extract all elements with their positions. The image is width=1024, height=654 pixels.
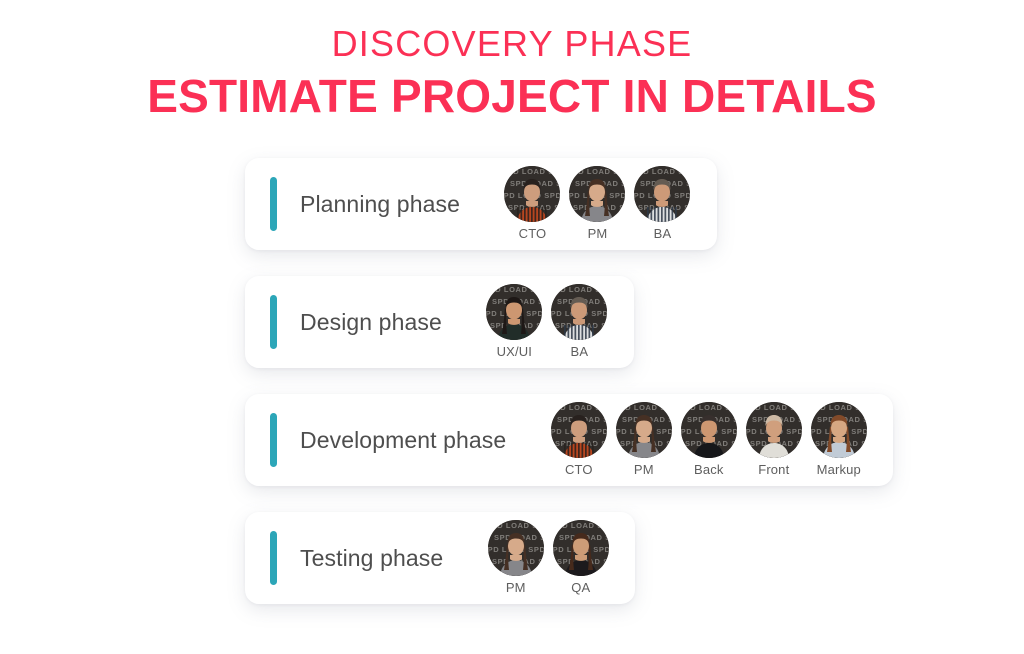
phase-accent-bar xyxy=(270,177,277,231)
page-header: Discovery phase Estimate project in deta… xyxy=(0,0,1024,124)
avatar-woman-dark-hair[interactable]: SPD LOAD SPD LOADSPD LOAD SPD LOADSPD LO… xyxy=(486,284,542,340)
phase-card[interactable]: Development phaseSPD LOAD SPD LOADSPD LO… xyxy=(245,394,893,486)
team-member[interactable]: SPD LOAD SPD LOADSPD LOAD SPD LOADSPD LO… xyxy=(676,402,741,477)
phase-accent-bar xyxy=(270,531,277,585)
team-member[interactable]: SPD LOAD SPD LOADSPD LOAD SPD LOADSPD LO… xyxy=(565,166,630,241)
team-member-role-label: CTO xyxy=(519,227,547,241)
team-member-role-label: PM xyxy=(634,463,654,477)
avatar-woman-long-brown-hair[interactable]: SPD LOAD SPD LOADSPD LOAD SPD LOADSPD LO… xyxy=(553,520,609,576)
phase-card[interactable]: Testing phaseSPD LOAD SPD LOADSPD LOAD S… xyxy=(245,512,635,604)
avatar-man-striped-navy[interactable]: SPD LOAD SPD LOADSPD LOAD SPD LOADSPD LO… xyxy=(551,284,607,340)
team-member-role-label: Front xyxy=(758,463,789,477)
team-member-role-label: QA xyxy=(571,581,590,595)
avatar-man-white-shirt[interactable]: SPD LOAD SPD LOADSPD LOAD SPD LOADSPD LO… xyxy=(746,402,802,458)
team-member[interactable]: SPD LOAD SPD LOADSPD LOAD SPD LOADSPD LO… xyxy=(500,166,565,241)
avatar-man-black-shirt[interactable]: SPD LOAD SPD LOADSPD LOAD SPD LOADSPD LO… xyxy=(681,402,737,458)
team-member[interactable]: SPD LOAD SPD LOADSPD LOAD SPD LOADSPD LO… xyxy=(547,284,612,359)
team-member[interactable]: SPD LOAD SPD LOADSPD LOAD SPD LOADSPD LO… xyxy=(483,520,548,595)
team-member-row: SPD LOAD SPD LOADSPD LOAD SPD LOADSPD LO… xyxy=(546,402,871,477)
team-member-role-label: PM xyxy=(588,227,608,241)
team-member-row: SPD LOAD SPD LOADSPD LOAD SPD LOADSPD LO… xyxy=(483,520,613,595)
team-member-role-label: UX/UI xyxy=(497,345,532,359)
team-member[interactable]: SPD LOAD SPD LOADSPD LOAD SPD LOADSPD LO… xyxy=(630,166,695,241)
avatar-man-striped-orange[interactable]: SPD LOAD SPD LOADSPD LOAD SPD LOADSPD LO… xyxy=(504,166,560,222)
team-member-role-label: CTO xyxy=(565,463,593,477)
team-member-role-label: PM xyxy=(506,581,526,595)
phase-list: Planning phaseSPD LOAD SPD LOADSPD LOAD … xyxy=(245,158,1024,604)
phase-name: Testing phase xyxy=(300,545,443,572)
avatar-woman-gray-collar[interactable]: SPD LOAD SPD LOADSPD LOAD SPD LOADSPD LO… xyxy=(488,520,544,576)
slide-root: Discovery phase Estimate project in deta… xyxy=(0,0,1024,654)
phase-accent-bar xyxy=(270,295,277,349)
team-member-role-label: BA xyxy=(654,227,672,241)
team-member[interactable]: SPD LOAD SPD LOADSPD LOAD SPD LOADSPD LO… xyxy=(482,284,547,359)
avatar-woman-light-blue[interactable]: SPD LOAD SPD LOADSPD LOAD SPD LOADSPD LO… xyxy=(811,402,867,458)
phase-name: Design phase xyxy=(300,309,442,336)
phase-name: Planning phase xyxy=(300,191,460,218)
team-member[interactable]: SPD LOAD SPD LOADSPD LOAD SPD LOADSPD LO… xyxy=(611,402,676,477)
team-member[interactable]: SPD LOAD SPD LOADSPD LOAD SPD LOADSPD LO… xyxy=(548,520,613,595)
team-member-row: SPD LOAD SPD LOADSPD LOAD SPD LOADSPD LO… xyxy=(482,284,612,359)
eyebrow-title: Discovery phase xyxy=(0,24,1024,64)
avatar-man-striped-navy[interactable]: SPD LOAD SPD LOADSPD LOAD SPD LOADSPD LO… xyxy=(634,166,690,222)
team-member[interactable]: SPD LOAD SPD LOADSPD LOAD SPD LOADSPD LO… xyxy=(806,402,871,477)
team-member-role-label: Markup xyxy=(817,463,861,477)
team-member-role-label: BA xyxy=(571,345,589,359)
avatar-woman-gray-collar[interactable]: SPD LOAD SPD LOADSPD LOAD SPD LOADSPD LO… xyxy=(569,166,625,222)
phase-card[interactable]: Design phaseSPD LOAD SPD LOADSPD LOAD SP… xyxy=(245,276,634,368)
phase-name: Development phase xyxy=(300,427,506,454)
phase-card[interactable]: Planning phaseSPD LOAD SPD LOADSPD LOAD … xyxy=(245,158,717,250)
avatar-woman-gray-collar[interactable]: SPD LOAD SPD LOADSPD LOAD SPD LOADSPD LO… xyxy=(616,402,672,458)
team-member-role-label: Back xyxy=(694,463,724,477)
team-member[interactable]: SPD LOAD SPD LOADSPD LOAD SPD LOADSPD LO… xyxy=(741,402,806,477)
page-title: Estimate project in details xyxy=(0,70,1024,123)
team-member-row: SPD LOAD SPD LOADSPD LOAD SPD LOADSPD LO… xyxy=(500,166,695,241)
team-member[interactable]: SPD LOAD SPD LOADSPD LOAD SPD LOADSPD LO… xyxy=(546,402,611,477)
phase-accent-bar xyxy=(270,413,277,467)
avatar-man-striped-orange[interactable]: SPD LOAD SPD LOADSPD LOAD SPD LOADSPD LO… xyxy=(551,402,607,458)
